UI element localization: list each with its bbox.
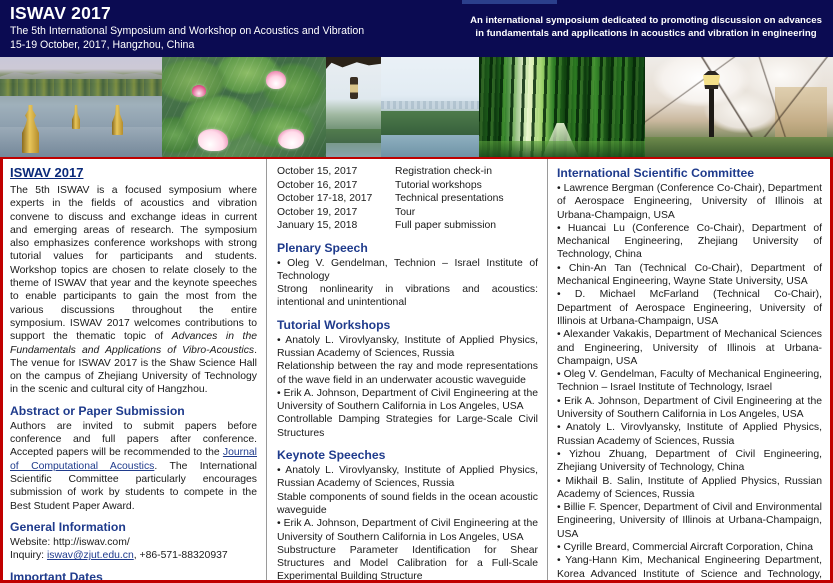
speaker-affiliation: • Anatoly L. Virovlyansky, Institute of … <box>277 464 538 491</box>
list-item: • Oleg V. Gendelman, Faculty of Mechanic… <box>557 368 822 395</box>
submission-heading: Abstract or Paper Submission <box>10 403 257 419</box>
list-item: • Cyrille Breard, Commercial Aircraft Co… <box>557 541 822 554</box>
bamboo-forest-path-photo <box>479 57 645 157</box>
lotus-blossom-icon <box>192 85 206 97</box>
about-heading: ISWAV 2017 <box>10 165 257 181</box>
inquiry-label: Inquiry: <box>10 550 47 561</box>
table-row: October 16, 2017 Tutorial workshops <box>277 179 538 193</box>
hanging-lantern-icon <box>350 77 358 99</box>
tree-line <box>0 79 162 96</box>
list-item: • Yizhou Zhuang, Department of Civil Eng… <box>557 448 822 475</box>
important-dates-heading: Important Dates <box>10 569 257 580</box>
event-cell: Tour <box>395 206 538 220</box>
list-item: • Mikhail B. Salin, Institute of Applied… <box>557 475 822 502</box>
event-cell: Tutorial workshops <box>395 179 538 193</box>
conference-title: ISWAV 2017 <box>10 3 364 23</box>
conference-poster: ISWAV 2017 The 5th International Symposi… <box>0 0 833 583</box>
header-tagline: An international symposium dedicated to … <box>468 14 824 40</box>
conference-subtitle: The 5th International Symposium and Work… <box>10 24 364 38</box>
list-item: • Alexander Vakakis, Department of Mecha… <box>557 328 822 368</box>
contact-email-link[interactable]: iswav@zjut.edu.cn <box>47 550 134 561</box>
list-item: • Erik A. Johnson, Department of Civil E… <box>277 387 538 440</box>
about-paragraph: The 5th ISWAV is a focused symposium whe… <box>10 184 257 397</box>
speaker-affiliation: • Oleg V. Gendelman, Technion – Israel I… <box>277 257 538 284</box>
poster-header: ISWAV 2017 The 5th International Symposi… <box>0 0 833 57</box>
event-cell: Full paper submission <box>395 219 538 233</box>
date-cell: October 15, 2017 <box>277 165 395 179</box>
contact-phone: , +86-571-88320937 <box>134 550 228 561</box>
photo-banner-strip <box>0 57 833 157</box>
lake-water <box>381 135 479 157</box>
middle-column: October 15, 2017 Registration check-in O… <box>266 159 547 580</box>
date-cell: October 19, 2017 <box>277 206 395 220</box>
cherry-blossom-lamppost-photo <box>645 57 833 157</box>
conference-dates-location: 15-19 October, 2017, Hangzhou, China <box>10 38 364 52</box>
tagline-line-2: in fundamentals and applications in acou… <box>468 27 824 40</box>
date-cell: October 17-18, 2017 <box>277 192 395 206</box>
forest-floor <box>479 141 645 157</box>
keynote-topic: Stable components of sound fields in the… <box>277 491 538 518</box>
list-item: • Erik A. Johnson, Department of Civil E… <box>557 395 822 422</box>
submission-paragraph: Authors are invited to submit papers bef… <box>10 420 257 513</box>
tutorial-workshops-heading: Tutorial Workshops <box>277 317 538 333</box>
shoreline <box>326 129 381 143</box>
scientific-committee-heading: International Scientific Committee <box>557 165 822 181</box>
west-lake-panorama-photo <box>381 57 479 157</box>
list-item: • Oleg V. Gendelman, Technion – Israel I… <box>277 257 538 310</box>
plenary-speech-heading: Plenary Speech <box>277 240 538 256</box>
speaker-affiliation: • Erik A. Johnson, Department of Civil E… <box>277 517 538 544</box>
about-text-part-1: The 5th ISWAV is a focused symposium whe… <box>10 185 257 342</box>
date-cell: October 16, 2017 <box>277 179 395 193</box>
workshop-topic: Controllable Damping Strategies for Larg… <box>277 413 538 440</box>
green-island <box>381 111 479 135</box>
west-lake-three-pools-photo <box>0 57 162 157</box>
keynote-speeches-heading: Keynote Speeches <box>277 447 538 463</box>
workshop-topic: Relationship between the ray and mode re… <box>277 360 538 387</box>
date-cell: January 15, 2018 <box>277 219 395 233</box>
header-title-block: ISWAV 2017 The 5th International Symposi… <box>10 3 364 52</box>
city-skyline <box>381 101 479 109</box>
list-item: • Lawrence Bergman (Conference Co-Chair)… <box>557 182 822 222</box>
lotus-flowers-photo <box>162 57 326 157</box>
website-value: http://iswav.com/ <box>53 537 130 548</box>
list-item: • Anatoly L. Virovlyansky, Institute of … <box>557 421 822 448</box>
keynote-topic: Substructure Parameter Identification fo… <box>277 544 538 580</box>
lotus-blossom-icon <box>278 129 304 149</box>
stone-pagoda-icon <box>112 105 123 135</box>
table-row: October 17-18, 2017 Technical presentati… <box>277 192 538 206</box>
list-item: • Erik A. Johnson, Department of Civil E… <box>277 517 538 580</box>
list-item: • Anatoly L. Virovlyansky, Institute of … <box>277 334 538 387</box>
temple-eave-lake-photo <box>326 57 381 157</box>
table-row: October 19, 2017 Tour <box>277 206 538 220</box>
ground-shrubs <box>645 137 833 157</box>
table-row: October 15, 2017 Registration check-in <box>277 165 538 179</box>
header-accent-bar <box>462 0 557 4</box>
speech-topic: Strong nonlinearity in vibrations and ac… <box>277 283 538 310</box>
list-item: • Anatoly L. Virovlyansky, Institute of … <box>277 464 538 517</box>
submission-text-part-1: Authors are invited to submit papers bef… <box>10 421 257 459</box>
list-item: • Huancai Lu (Conference Co-Chair), Depa… <box>557 222 822 262</box>
table-row: January 15, 2018 Full paper submission <box>277 219 538 233</box>
schedule-table: October 15, 2017 Registration check-in O… <box>277 165 538 233</box>
speaker-affiliation: • Anatoly L. Virovlyansky, Institute of … <box>277 334 538 361</box>
inquiry-line: Inquiry: iswav@zjut.edu.cn, +86-571-8832… <box>10 549 257 563</box>
tagline-line-1: An international symposium dedicated to … <box>468 14 824 27</box>
general-information-heading: General Information <box>10 519 257 535</box>
stone-pagoda-icon <box>72 105 80 129</box>
website-label: Website: <box>10 537 53 548</box>
poster-body: ISWAV 2017 The 5th ISWAV is a focused sy… <box>0 157 833 583</box>
lamp-head-icon <box>703 71 720 89</box>
list-item: • Chin-An Tan (Technical Co-Chair), Depa… <box>557 262 822 289</box>
speaker-affiliation: • Erik A. Johnson, Department of Civil E… <box>277 387 538 414</box>
left-column: ISWAV 2017 The 5th ISWAV is a focused sy… <box>3 159 266 580</box>
list-item: • D. Michael McFarland (Technical Co-Cha… <box>557 288 822 328</box>
event-cell: Registration check-in <box>395 165 538 179</box>
lotus-blossom-icon <box>266 71 286 89</box>
right-column: International Scientific Committee • Law… <box>547 159 830 580</box>
website-line: Website: http://iswav.com/ <box>10 536 257 550</box>
list-item: • Billie F. Spencer, Department of Civil… <box>557 501 822 541</box>
event-cell: Technical presentations <box>395 192 538 206</box>
lotus-blossom-icon <box>198 129 228 151</box>
list-item: • Yang-Hann Kim, Mechanical Engineering … <box>557 554 822 580</box>
stone-pagoda-icon <box>22 105 39 153</box>
